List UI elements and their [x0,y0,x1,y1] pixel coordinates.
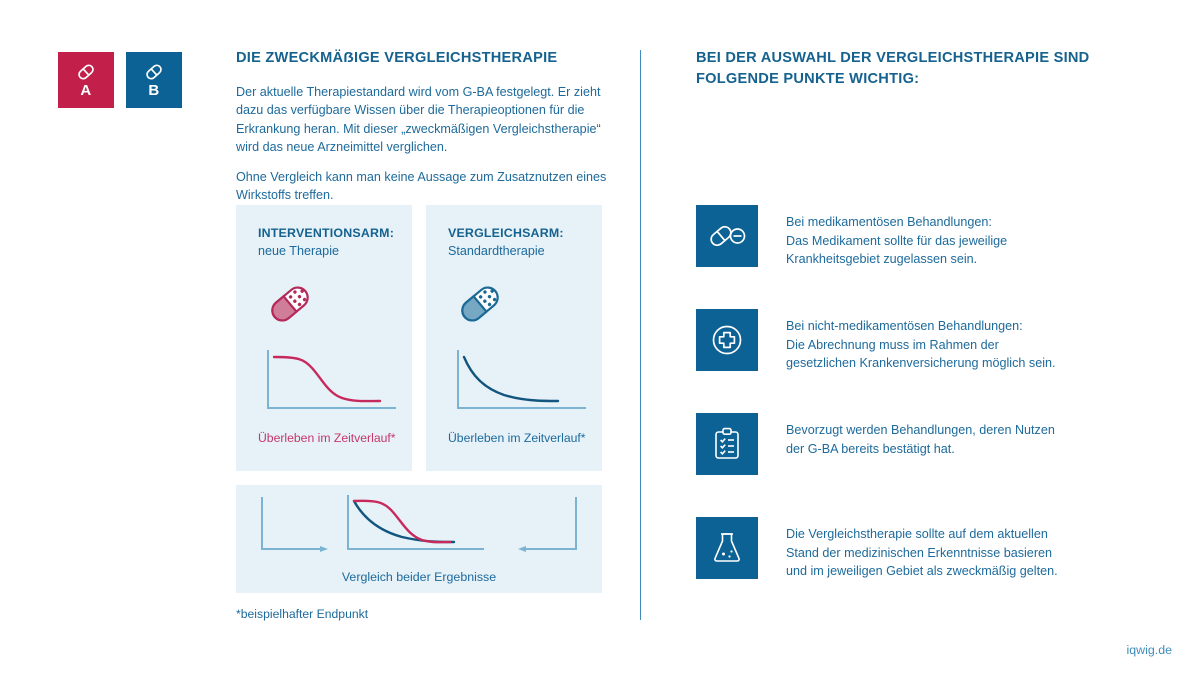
capsule-icon [141,62,167,82]
badge-letter: A [80,83,91,98]
page-title: DIE ZWECKMÄẞIGE VERGLEICHSTHERAPIE [236,48,608,69]
list-item-line: Das Medikament sollte für das jeweilige [786,232,1007,251]
arm-subtitle: Standardtherapie [448,243,602,260]
comparison-chart [236,485,602,563]
list-item-line: Bei nicht-medikamentösen Behandlungen: [786,317,1056,336]
arm-subtitle: neue Therapie [258,243,412,260]
list-item-line: Krankheitsgebiet zugelassen sein. [786,250,1007,269]
clipboard-checklist-icon [712,426,742,462]
arm-panel-comparator: VERGLEICHSARM: Standardtherapie [426,205,602,471]
badge-arm-a: A [58,52,114,108]
arm-caption: Überleben im Zeitverlauf* [258,430,412,447]
list-item: Bei medikamentösen Behandlungen: Das Med… [696,205,1058,309]
left-column: DIE ZWECKMÄẞIGE VERGLEICHSTHERAPIE Der a… [236,48,608,205]
comparison-caption: Vergleich beider Ergebnisse [236,570,602,584]
badge-arm-b: B [126,52,182,108]
list-item: Die Vergleichstherapie sollte auf dem ak… [696,517,1058,621]
survival-curve-intervention [256,346,404,416]
arm-title: INTERVENTIONSARM: [258,225,412,242]
list-item-line: und im jeweiligen Gebiet als zweckmäßig … [786,562,1058,581]
column-divider [640,50,641,620]
arm-badges: A B [58,52,182,108]
capsule-pill-icon [454,279,506,329]
list-item-line: Bei medikamentösen Behandlungen: [786,213,1007,232]
arm-caption: Überleben im Zeitverlauf* [448,430,602,447]
intro-paragraph-1: Der aktuelle Therapiestandard wird vom G… [236,83,608,157]
criteria-list: Bei medikamentösen Behandlungen: Das Med… [696,205,1058,621]
list-item: Bevorzugt werden Behandlungen, deren Nut… [696,413,1058,517]
criteria-heading: BEI DER AUSWAHL DER VERGLEICHSTHERAPIE S… [696,48,1096,89]
capsule-icon [73,62,99,82]
list-item-text: Bevorzugt werden Behandlungen, deren Nut… [786,413,1055,458]
study-arms: INTERVENTIONSARM: neue Therapie [236,205,602,471]
right-column: BEI DER AUSWAHL DER VERGLEICHSTHERAPIE S… [696,48,1096,89]
icon-tile [696,413,758,475]
list-item-line: der G-BA bereits bestätigt hat. [786,440,1055,459]
flask-icon [712,530,742,566]
capsule-pill-icon [264,279,316,329]
circle-plus-icon [710,323,744,357]
survival-curve-comparator [446,346,594,416]
infographic-canvas: A B DIE ZWECKMÄẞIGE VERGLEICHSTHERAPIE D… [0,0,1200,675]
icon-tile [696,517,758,579]
arm-panel-intervention: INTERVENTIONSARM: neue Therapie [236,205,412,471]
list-item-line: Die Vergleichstherapie sollte auf dem ak… [786,525,1058,544]
badge-letter: B [148,83,159,98]
capsule-tablet-icon [707,220,747,252]
arm-title: VERGLEICHSARM: [448,225,602,242]
list-item-line: Die Abrechnung muss im Rahmen der [786,336,1056,355]
icon-tile [696,205,758,267]
list-item-line: Stand der medizinischen Erkenntnisse bas… [786,544,1058,563]
list-item-text: Bei medikamentösen Behandlungen: Das Med… [786,205,1007,269]
footnote: *beispielhafter Endpunkt [236,607,368,621]
list-item-line: gesetzlichen Krankenversicherung möglich… [786,354,1056,373]
list-item-text: Die Vergleichstherapie sollte auf dem ak… [786,517,1058,581]
intro-paragraph-2: Ohne Vergleich kann man keine Aussage zu… [236,168,608,205]
comparison-panel: Vergleich beider Ergebnisse [236,485,602,593]
list-item-line: Bevorzugt werden Behandlungen, deren Nut… [786,421,1055,440]
list-item-text: Bei nicht-medikamentösen Behandlungen: D… [786,309,1056,373]
source-label: iqwig.de [1127,643,1172,657]
list-item: Bei nicht-medikamentösen Behandlungen: D… [696,309,1058,413]
icon-tile [696,309,758,371]
